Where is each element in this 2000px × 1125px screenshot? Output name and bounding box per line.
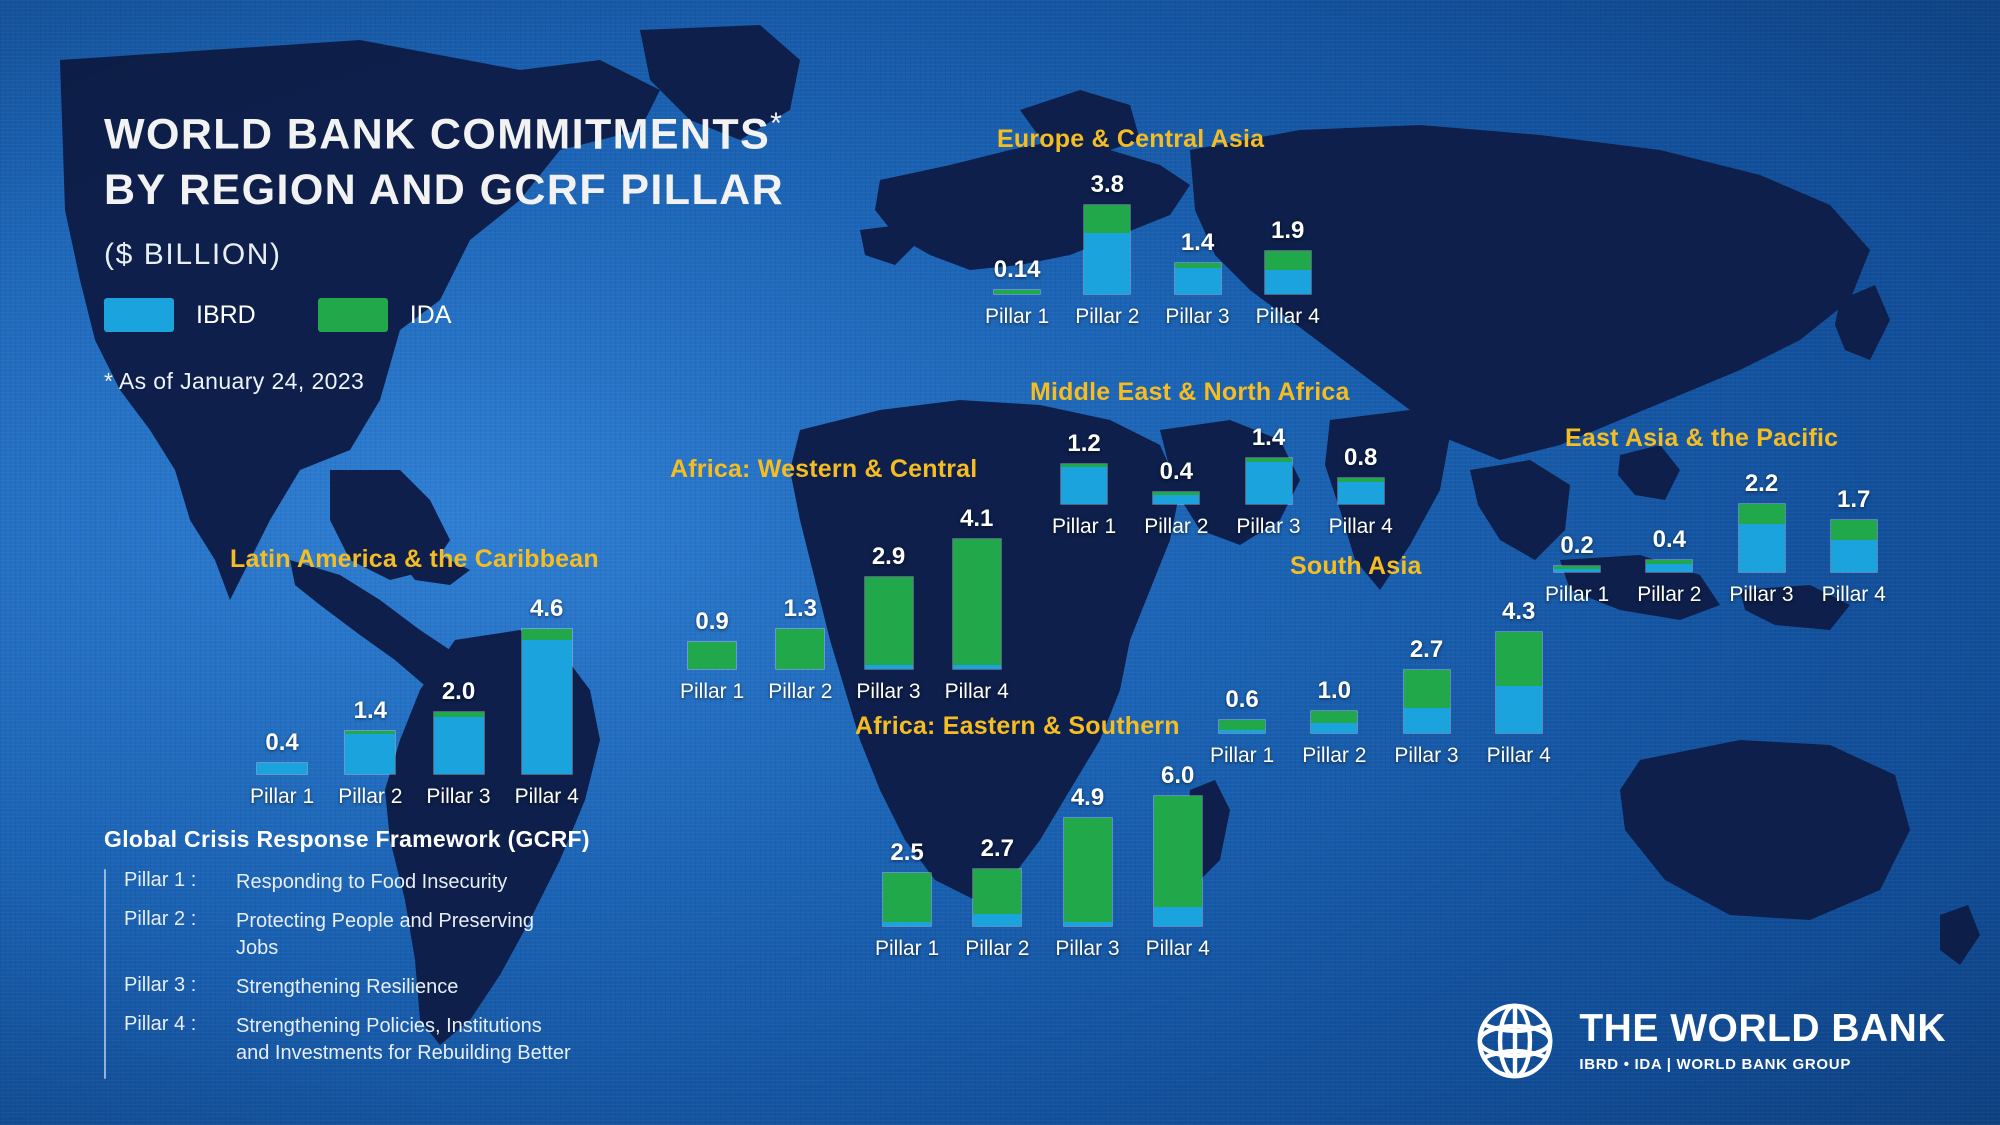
bar-value-label: 1.0 (1318, 679, 1351, 703)
bar-category-label: Pillar 4 (1256, 305, 1320, 329)
gcrf-pillar-number: Pillar 3 : (124, 974, 236, 1001)
stacked-bar[interactable] (1830, 519, 1878, 573)
stacked-bar[interactable] (1218, 719, 1266, 734)
bar-group-eca: 0.14Pillar 13.8Pillar 21.4Pillar 31.9Pil… (985, 173, 1320, 329)
bar-category-label: Pillar 2 (1637, 583, 1701, 607)
bar-group-mna: 1.2Pillar 10.4Pillar 21.4Pillar 30.8Pill… (1052, 426, 1393, 539)
bar-category-label: Pillar 1 (1545, 583, 1609, 607)
stacked-bar[interactable] (1310, 710, 1358, 734)
bar-segment-ibrd (1265, 270, 1311, 294)
page-subtitle: ($ BILLION) (104, 238, 784, 272)
bar-value-label: 0.9 (695, 610, 728, 634)
stacked-bar[interactable] (256, 762, 308, 775)
bar-segment-ida (1154, 796, 1202, 907)
bar-segment-ida (1739, 504, 1785, 524)
region-title-afw: Africa: Western & Central (670, 455, 977, 484)
bar-value-label: 0.6 (1225, 688, 1258, 712)
bar-segment-ida (973, 869, 1021, 915)
bar-column[interactable]: 6.0Pillar 4 (1146, 764, 1210, 961)
bar-category-label: Pillar 4 (1146, 937, 1210, 961)
bar-value-label: 2.7 (1410, 638, 1443, 662)
region-title-mna: Middle East & North Africa (1030, 378, 1350, 407)
bar-column[interactable]: 3.8Pillar 2 (1075, 173, 1139, 329)
legend-label-ibrd: IBRD (196, 301, 256, 330)
bar-group-afw: 0.9Pillar 11.3Pillar 22.9Pillar 34.1Pill… (680, 507, 1009, 704)
bar-column[interactable]: 0.6Pillar 1 (1210, 688, 1274, 768)
bar-category-label: Pillar 2 (338, 785, 402, 809)
stacked-bar[interactable] (1337, 477, 1385, 504)
gcrf-row: Pillar 4 :Strengthening Policies, Instit… (124, 1013, 576, 1067)
infographic-canvas: WORLD BANK COMMITMENTS* BY REGION AND GC… (0, 0, 2000, 1125)
footnote-asterisk: * (770, 107, 783, 140)
stacked-bar[interactable] (521, 628, 573, 775)
bar-value-label: 0.4 (1160, 460, 1193, 484)
bar-column[interactable]: 2.0Pillar 3 (426, 680, 490, 809)
bar-segment-ida (1219, 720, 1265, 729)
bar-value-label: 0.4 (1653, 528, 1686, 552)
gcrf-pillar-number: Pillar 4 : (124, 1013, 236, 1067)
bar-value-label: 1.4 (1181, 231, 1214, 255)
bar-column[interactable]: 2.5Pillar 1 (875, 841, 939, 961)
gcrf-pillar-number: Pillar 1 : (124, 869, 236, 896)
bar-segment-ida (1064, 818, 1112, 922)
bar-column[interactable]: 0.4Pillar 2 (1144, 460, 1208, 539)
stacked-bar[interactable] (1245, 457, 1293, 505)
bar-segment-ibrd (1338, 482, 1384, 503)
bar-segment-ibrd (883, 922, 931, 926)
legend-label-ida: IDA (410, 301, 452, 330)
gcrf-pillar-description: Strengthening Policies, Institutions and… (236, 1013, 576, 1067)
bar-category-label: Pillar 2 (1302, 744, 1366, 768)
stacked-bar[interactable] (882, 872, 932, 927)
bar-column[interactable]: 0.2Pillar 1 (1545, 534, 1609, 607)
stacked-bar[interactable] (952, 538, 1002, 670)
bar-segment-ibrd (1496, 686, 1542, 733)
bar-value-label: 2.7 (981, 837, 1014, 861)
page-title-line-1: WORLD BANK COMMITMENTS* (104, 96, 784, 162)
bar-value-label: 0.4 (265, 731, 298, 755)
stacked-bar[interactable] (1495, 631, 1543, 734)
bar-segment-ibrd (522, 640, 572, 774)
bar-segment-ibrd (1175, 268, 1221, 294)
bar-segment-ida (776, 629, 824, 669)
gcrf-vertical-rule (104, 869, 106, 1079)
bar-segment-ibrd (1084, 233, 1130, 294)
bar-segment-ida (1311, 711, 1357, 723)
bar-segment-ida (522, 629, 572, 640)
bar-column[interactable]: 1.4Pillar 3 (1165, 231, 1229, 330)
bar-category-label: Pillar 3 (426, 785, 490, 809)
bar-category-label: Pillar 3 (1394, 744, 1458, 768)
stacked-bar[interactable] (1738, 503, 1786, 573)
bar-column[interactable]: 4.6Pillar 4 (515, 597, 579, 809)
bar-group-sar: 0.6Pillar 11.0Pillar 22.7Pillar 34.3Pill… (1210, 600, 1551, 768)
bar-column[interactable]: 0.4Pillar 1 (250, 731, 314, 809)
bar-value-label: 4.3 (1502, 600, 1535, 624)
bar-segment-ida (1496, 632, 1542, 686)
bar-value-label: 1.9 (1271, 219, 1304, 243)
page-title-line-2: BY REGION AND GCRF PILLAR (104, 162, 784, 218)
bar-value-label: 1.7 (1837, 488, 1870, 512)
bar-value-label: 4.1 (960, 507, 993, 531)
bar-category-label: Pillar 4 (1487, 744, 1551, 768)
bar-segment-ibrd (1831, 540, 1877, 572)
stacked-bar[interactable] (864, 576, 914, 670)
globe-icon (1471, 997, 1559, 1085)
stacked-bar[interactable] (1174, 262, 1222, 296)
bar-group-lac: 0.4Pillar 11.4Pillar 22.0Pillar 34.6Pill… (250, 597, 579, 809)
bar-segment-ibrd (434, 717, 484, 774)
bar-column[interactable]: 4.1Pillar 4 (945, 507, 1009, 704)
region-title-eca: Europe & Central Asia (997, 125, 1264, 154)
bar-segment-ibrd (1064, 922, 1112, 926)
bar-column[interactable]: 4.3Pillar 4 (1487, 600, 1551, 768)
stacked-bar[interactable] (1264, 250, 1312, 296)
bar-segment-ida (865, 577, 913, 665)
logo-text-main: THE WORLD BANK (1579, 1009, 1946, 1048)
bar-segment-ida (688, 642, 736, 669)
bar-category-label: Pillar 4 (1329, 515, 1393, 539)
bar-segment-ibrd (257, 763, 307, 774)
bar-segment-ibrd (1219, 730, 1265, 733)
bar-category-label: Pillar 2 (768, 680, 832, 704)
bar-value-label: 2.0 (442, 680, 475, 704)
bar-value-label: 0.2 (1560, 534, 1593, 558)
bar-column[interactable]: 0.9Pillar 1 (680, 610, 744, 704)
bar-value-label: 4.6 (530, 597, 563, 621)
bar-value-label: 6.0 (1161, 764, 1194, 788)
bar-column[interactable]: 2.9Pillar 3 (856, 545, 920, 704)
bar-column[interactable]: 2.2Pillar 3 (1729, 472, 1793, 607)
stacked-bar[interactable] (433, 711, 485, 775)
logo-text-sub: IBRD • IDA | WORLD BANK GROUP (1579, 1056, 1946, 1073)
bar-column[interactable]: 0.14Pillar 1 (985, 258, 1049, 329)
bar-column[interactable]: 2.7Pillar 3 (1394, 638, 1458, 768)
stacked-bar[interactable] (1645, 559, 1693, 573)
region-title-lac: Latin America & the Caribbean (230, 545, 599, 574)
bar-segment-ibrd (345, 734, 395, 774)
gcrf-key: Global Crisis Response Framework (GCRF) … (104, 826, 590, 1079)
bar-segment-ibrd (1311, 723, 1357, 733)
world-bank-logo: THE WORLD BANK IBRD • IDA | WORLD BANK G… (1471, 997, 1946, 1085)
bar-segment-ida (1404, 670, 1450, 707)
gcrf-row: Pillar 3 :Strengthening Resilience (124, 974, 576, 1001)
bar-value-label: 0.14 (994, 258, 1041, 282)
bar-value-label: 3.8 (1091, 173, 1124, 197)
bar-column[interactable]: 1.9Pillar 4 (1256, 219, 1320, 330)
stacked-bar[interactable] (1152, 491, 1200, 505)
bar-value-label: 1.4 (1252, 426, 1285, 450)
bar-category-label: Pillar 2 (965, 937, 1029, 961)
region-title-afe: Africa: Eastern & Southern (855, 712, 1180, 741)
bar-category-label: Pillar 1 (680, 680, 744, 704)
bar-column[interactable]: 1.2Pillar 1 (1052, 432, 1116, 539)
bar-value-label: 2.2 (1745, 472, 1778, 496)
stacked-bar[interactable] (1060, 463, 1108, 505)
bar-column[interactable]: 0.4Pillar 2 (1637, 528, 1701, 607)
gcrf-rows: Pillar 1 :Responding to Food InsecurityP… (124, 869, 576, 1079)
bar-column[interactable]: 2.7Pillar 2 (965, 837, 1029, 961)
bar-group-afe: 2.5Pillar 12.7Pillar 24.9Pillar 36.0Pill… (875, 764, 1210, 961)
bar-segment-ida (953, 539, 1001, 665)
gcrf-pillar-description: Protecting People and Preserving Jobs (236, 908, 576, 962)
bar-category-label: Pillar 4 (945, 680, 1009, 704)
gcrf-row: Pillar 2 :Protecting People and Preservi… (124, 908, 576, 962)
bar-category-label: Pillar 3 (856, 680, 920, 704)
bar-value-label: 0.8 (1344, 446, 1377, 470)
bar-segment-ida (1265, 251, 1311, 271)
bar-category-label: Pillar 3 (1236, 515, 1300, 539)
stacked-bar[interactable] (1063, 817, 1113, 927)
bar-category-label: Pillar 1 (985, 305, 1049, 329)
region-title-eap: East Asia & the Pacific (1565, 424, 1838, 453)
chart-legend: IBRD IDA (104, 298, 491, 332)
bar-segment-ibrd (1646, 564, 1692, 573)
bar-segment-ibrd (973, 914, 1021, 926)
region-title-sar: South Asia (1290, 552, 1422, 581)
bar-column[interactable]: 1.3Pillar 2 (768, 597, 832, 704)
stacked-bar[interactable] (775, 628, 825, 670)
stacked-bar[interactable] (972, 868, 1022, 927)
bar-category-label: Pillar 4 (515, 785, 579, 809)
bar-value-label: 4.9 (1071, 786, 1104, 810)
bar-segment-ibrd (1153, 495, 1199, 503)
gcrf-pillar-description: Strengthening Resilience (236, 974, 458, 1001)
legend-swatch-ibrd (104, 298, 174, 332)
bar-segment-ida (1831, 520, 1877, 540)
bar-category-label: Pillar 1 (1052, 515, 1116, 539)
bar-category-label: Pillar 2 (1144, 515, 1208, 539)
bar-category-label: Pillar 3 (1165, 305, 1229, 329)
gcrf-pillar-number: Pillar 2 : (124, 908, 236, 962)
stacked-bar[interactable] (1403, 669, 1451, 734)
gcrf-key-title: Global Crisis Response Framework (GCRF) (104, 826, 590, 853)
bar-segment-ibrd (1246, 462, 1292, 504)
footnote-date: * As of January 24, 2023 (104, 368, 364, 395)
bar-segment-ibrd (1404, 708, 1450, 734)
bar-category-label: Pillar 1 (1210, 744, 1274, 768)
page-title-block: WORLD BANK COMMITMENTS* BY REGION AND GC… (104, 96, 784, 272)
stacked-bar[interactable] (1553, 565, 1601, 573)
bar-value-label: 1.3 (784, 597, 817, 621)
bar-segment-ida (883, 873, 931, 922)
stacked-bar[interactable] (993, 289, 1041, 295)
bar-segment-ibrd (953, 665, 1001, 669)
bar-column[interactable]: 1.7Pillar 4 (1822, 488, 1886, 607)
bar-value-label: 1.4 (354, 699, 387, 723)
bar-column[interactable]: 1.0Pillar 2 (1302, 679, 1366, 768)
gcrf-row: Pillar 1 :Responding to Food Insecurity (124, 869, 576, 896)
bar-column[interactable]: 1.4Pillar 2 (338, 699, 402, 810)
bar-segment-ida (994, 290, 1040, 294)
bar-segment-ibrd (1061, 467, 1107, 503)
bar-segment-ibrd (865, 665, 913, 669)
bar-group-eap: 0.2Pillar 10.4Pillar 22.2Pillar 31.7Pill… (1545, 472, 1886, 607)
bar-value-label: 2.5 (890, 841, 923, 865)
bar-category-label: Pillar 1 (875, 937, 939, 961)
stacked-bar[interactable] (687, 641, 737, 670)
bar-segment-ida (1084, 205, 1130, 233)
stacked-bar[interactable] (1153, 795, 1203, 927)
bar-value-label: 2.9 (872, 545, 905, 569)
legend-swatch-ida (318, 298, 388, 332)
stacked-bar[interactable] (1083, 204, 1131, 295)
bar-category-label: Pillar 2 (1075, 305, 1139, 329)
bar-category-label: Pillar 1 (250, 785, 314, 809)
bar-segment-ibrd (1154, 907, 1202, 927)
gcrf-pillar-description: Responding to Food Insecurity (236, 869, 507, 896)
bar-segment-ibrd (1739, 524, 1785, 572)
stacked-bar[interactable] (344, 730, 396, 776)
bar-category-label: Pillar 3 (1729, 583, 1793, 607)
bar-category-label: Pillar 3 (1055, 937, 1119, 961)
bar-segment-ibrd (1554, 569, 1600, 572)
gcrf-key-list: Pillar 1 :Responding to Food InsecurityP… (104, 869, 590, 1079)
bar-value-label: 1.2 (1067, 432, 1100, 456)
bar-column[interactable]: 1.4Pillar 3 (1236, 426, 1300, 539)
bar-category-label: Pillar 4 (1822, 583, 1886, 607)
bar-column[interactable]: 0.8Pillar 4 (1329, 446, 1393, 538)
bar-column[interactable]: 4.9Pillar 3 (1055, 786, 1119, 961)
